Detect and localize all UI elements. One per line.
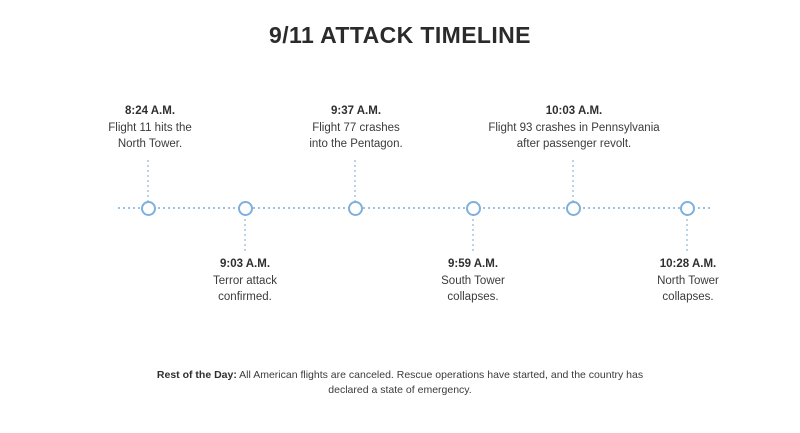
connector-5 — [572, 160, 574, 202]
timeline-infographic: 9/11 ATTACK TIMELINE 8:24 A.M.Flight 11 … — [0, 0, 800, 433]
event-description-3: Flight 77 crashes into the Pentagon. — [288, 120, 424, 152]
connector-3 — [354, 160, 356, 202]
event-time-6: 10:28 A.M. — [627, 256, 749, 272]
timeline-label-4: 9:59 A.M.South Tower collapses. — [413, 256, 533, 305]
footer-note: Rest of the Day: All American flights ar… — [150, 368, 650, 398]
timeline-label-2: 9:03 A.M.Terror attack confirmed. — [180, 256, 310, 305]
event-description-1: Flight 11 hits the North Tower. — [80, 120, 220, 152]
connector-1 — [147, 160, 149, 202]
event-description-4: South Tower collapses. — [413, 273, 533, 305]
timeline-node-3[interactable] — [348, 201, 363, 216]
timeline-node-5[interactable] — [566, 201, 581, 216]
connector-6 — [686, 214, 688, 254]
event-description-2: Terror attack confirmed. — [180, 273, 310, 305]
timeline-axis — [118, 207, 712, 209]
event-time-3: 9:37 A.M. — [288, 103, 424, 119]
event-time-1: 8:24 A.M. — [80, 103, 220, 119]
connector-2 — [244, 214, 246, 254]
page-title: 9/11 ATTACK TIMELINE — [0, 22, 800, 49]
timeline-label-3: 9:37 A.M.Flight 77 crashes into the Pent… — [288, 103, 424, 152]
footer-lead: Rest of the Day: — [157, 369, 237, 381]
event-time-5: 10:03 A.M. — [468, 103, 680, 119]
event-description-6: North Tower collapses. — [627, 273, 749, 305]
event-time-4: 9:59 A.M. — [413, 256, 533, 272]
event-time-2: 9:03 A.M. — [180, 256, 310, 272]
event-description-5: Flight 93 crashes in Pennsylvania after … — [468, 120, 680, 152]
timeline-node-1[interactable] — [141, 201, 156, 216]
timeline-label-6: 10:28 A.M.North Tower collapses. — [627, 256, 749, 305]
timeline-node-2[interactable] — [238, 201, 253, 216]
timeline-label-1: 8:24 A.M.Flight 11 hits the North Tower. — [80, 103, 220, 152]
timeline-node-4[interactable] — [466, 201, 481, 216]
connector-4 — [472, 214, 474, 254]
timeline-node-6[interactable] — [680, 201, 695, 216]
footer-text: All American flights are canceled. Rescu… — [237, 369, 643, 396]
timeline-label-5: 10:03 A.M.Flight 93 crashes in Pennsylva… — [468, 103, 680, 152]
